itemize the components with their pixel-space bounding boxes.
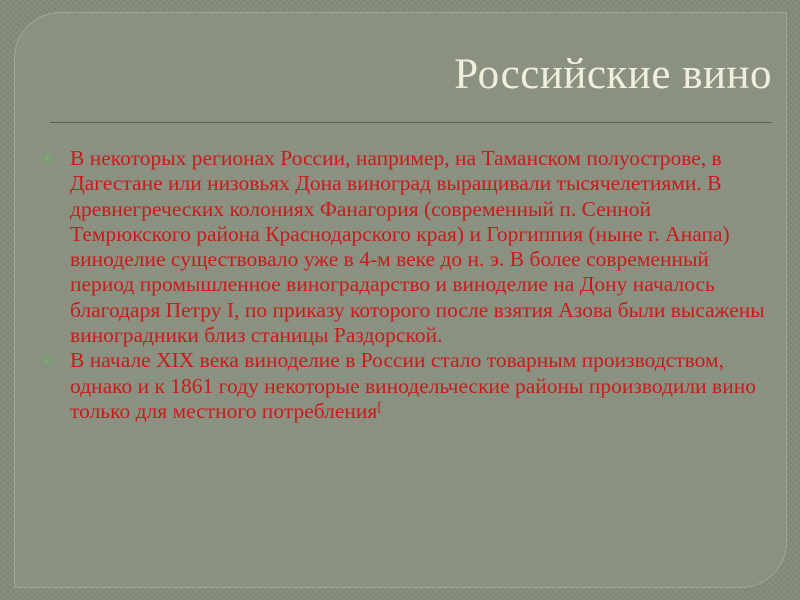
- list-item: В некоторых регионах России, например, н…: [34, 146, 774, 348]
- reference-marker: [: [377, 400, 382, 415]
- slide-title-block: Российские вино: [40, 52, 772, 97]
- list-item-body: В начале XIX века виноделие в России ста…: [70, 348, 756, 423]
- ring-bullet-icon: [42, 355, 53, 366]
- presentation-slide: Российские вино В некоторых регионах Рос…: [0, 0, 800, 600]
- list-item-text: В некоторых регионах России, например, н…: [70, 146, 774, 348]
- list-item-text: В начале XIX века виноделие в России ста…: [70, 348, 774, 424]
- slide-body-content: В некоторых регионах России, например, н…: [34, 146, 774, 424]
- title-divider-rule: [50, 122, 772, 123]
- list-item: В начале XIX века виноделие в России ста…: [34, 348, 774, 424]
- page-title: Российские вино: [454, 52, 772, 97]
- ring-bullet-icon: [42, 153, 53, 164]
